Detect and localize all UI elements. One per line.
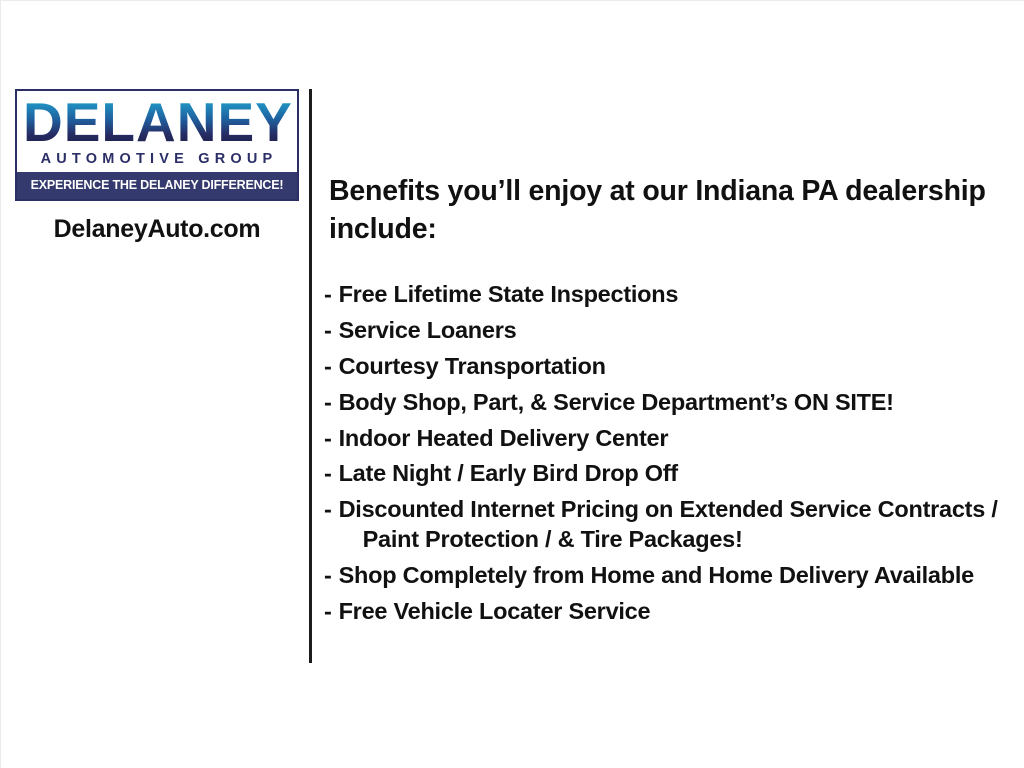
benefit-label: Body Shop, Part, & Service Department’s …: [339, 388, 1006, 418]
vertical-divider: [309, 89, 312, 663]
brand-subtitle: AUTOMOTIVE GROUP: [17, 150, 297, 172]
brand-website: DelaneyAuto.com: [15, 215, 299, 244]
benefit-bullet-marker: -: [324, 280, 332, 310]
brand-tagline-bar: EXPERIENCE THE DELANEY DIFFERENCE!: [17, 172, 297, 199]
benefit-label: Indoor Heated Delivery Center: [339, 424, 1006, 454]
benefits-list: -Free Lifetime State Inspections-Service…: [324, 280, 1006, 626]
benefit-label: Courtesy Transportation: [339, 352, 1006, 382]
slide-canvas: DELANEY AUTOMOTIVE GROUP EXPERIENCE THE …: [0, 0, 1024, 768]
benefit-label: Free Vehicle Locater Service: [339, 597, 1006, 627]
benefits-content: Benefits you’ll enjoy at our Indiana PA …: [324, 173, 1006, 633]
benefit-label: Service Loaners: [339, 316, 1006, 346]
benefit-item: -Shop Completely from Home and Home Deli…: [324, 561, 1006, 591]
benefit-label-continuation: Paint Protection / & Tire Packages!: [339, 525, 1006, 555]
benefit-item: -Indoor Heated Delivery Center: [324, 424, 1006, 454]
benefit-item: -Late Night / Early Bird Drop Off: [324, 459, 1006, 489]
benefit-label: Discounted Internet Pricing on Extended …: [339, 495, 1006, 555]
benefit-bullet-marker: -: [324, 424, 332, 454]
brand-logo-panel: DELANEY AUTOMOTIVE GROUP EXPERIENCE THE …: [15, 89, 299, 244]
brand-tagline-text: EXPERIENCE THE DELANEY DIFFERENCE!: [31, 178, 284, 192]
page-title: Benefits you’ll enjoy at our Indiana PA …: [329, 173, 1006, 248]
benefit-item: -Free Vehicle Locater Service: [324, 597, 1006, 627]
benefit-bullet-marker: -: [324, 316, 332, 346]
benefit-label: Shop Completely from Home and Home Deliv…: [339, 561, 1006, 591]
benefit-item: -Service Loaners: [324, 316, 1006, 346]
benefit-bullet-marker: -: [324, 495, 332, 525]
benefit-bullet-marker: -: [324, 597, 332, 627]
benefit-label: Free Lifetime State Inspections: [339, 280, 1006, 310]
benefit-bullet-marker: -: [324, 561, 332, 591]
benefit-item: -Body Shop, Part, & Service Department’s…: [324, 388, 1006, 418]
benefit-item: -Discounted Internet Pricing on Extended…: [324, 495, 1006, 555]
benefit-bullet-marker: -: [324, 388, 332, 418]
benefit-item: -Courtesy Transportation: [324, 352, 1006, 382]
benefit-bullet-marker: -: [324, 352, 332, 382]
benefit-label: Late Night / Early Bird Drop Off: [339, 459, 1006, 489]
logo-box: DELANEY AUTOMOTIVE GROUP EXPERIENCE THE …: [15, 89, 299, 201]
benefit-item: -Free Lifetime State Inspections: [324, 280, 1006, 310]
benefit-bullet-marker: -: [324, 459, 332, 489]
brand-wordmark: DELANEY: [17, 91, 297, 150]
